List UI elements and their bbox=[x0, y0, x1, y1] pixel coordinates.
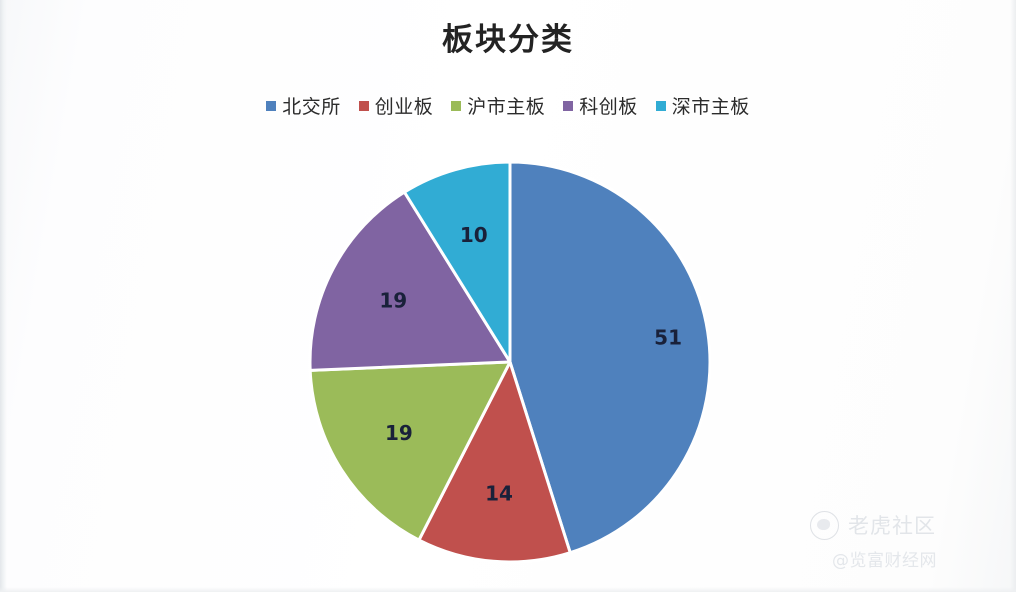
legend-item[interactable]: 科创板 bbox=[563, 92, 638, 119]
legend-swatch-icon bbox=[266, 101, 276, 111]
legend-item[interactable]: 创业板 bbox=[359, 92, 434, 119]
legend-swatch-icon bbox=[451, 101, 461, 111]
legend-item[interactable]: 沪市主板 bbox=[451, 92, 545, 119]
legend-swatch-icon bbox=[563, 101, 573, 111]
page-edge-shading-bottom bbox=[0, 587, 1016, 592]
tiger-logo-icon bbox=[810, 511, 839, 540]
legend-item-label: 深市主板 bbox=[672, 92, 750, 119]
page-edge-shading-left bbox=[0, 0, 7, 592]
chart-legend: 北交所创业板沪市主板科创板深市主板 bbox=[0, 92, 1016, 119]
pie-slice-value-label: 19 bbox=[385, 421, 413, 445]
legend-item-label: 科创板 bbox=[579, 92, 638, 119]
pie-slice-value-label: 10 bbox=[460, 223, 488, 247]
watermark-brand: 老虎社区 bbox=[810, 510, 936, 540]
chart-page: 板块分类 北交所创业板沪市主板科创板深市主板 5114191910 老虎社区 @… bbox=[0, 0, 1016, 592]
legend-item[interactable]: 北交所 bbox=[266, 92, 341, 119]
legend-swatch-icon bbox=[359, 101, 369, 111]
pie-slice-value-label: 19 bbox=[379, 288, 407, 312]
legend-item-label: 北交所 bbox=[282, 92, 341, 119]
watermark-source-label: @览富财经网 bbox=[832, 546, 937, 571]
pie-slice-value-label: 51 bbox=[654, 326, 682, 350]
legend-swatch-icon bbox=[656, 101, 666, 111]
pie-chart: 5114191910 bbox=[304, 156, 716, 568]
watermark: 老虎社区 @览富财经网 bbox=[810, 504, 1000, 584]
watermark-brand-label: 老虎社区 bbox=[848, 510, 936, 540]
chart-title: 板块分类 bbox=[0, 14, 1016, 59]
legend-item-label: 创业板 bbox=[375, 92, 434, 119]
legend-item-label: 沪市主板 bbox=[467, 92, 545, 119]
pie-chart-svg: 5114191910 bbox=[304, 156, 716, 568]
page-edge-shading-right bbox=[1010, 0, 1016, 592]
pie-slice-value-label: 14 bbox=[485, 482, 513, 506]
legend-item[interactable]: 深市主板 bbox=[656, 92, 750, 119]
